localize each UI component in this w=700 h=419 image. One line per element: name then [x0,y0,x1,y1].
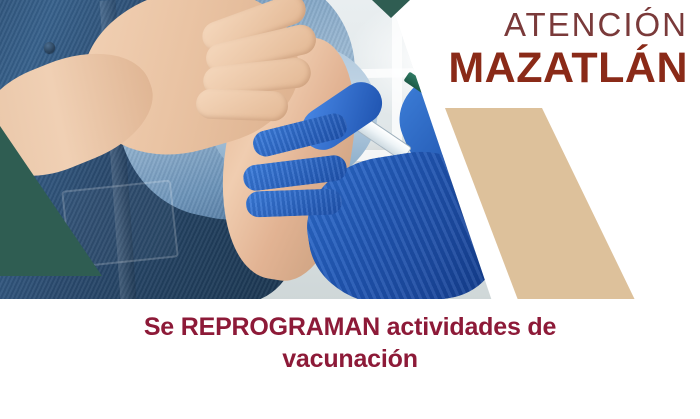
message-line-1: Se REPROGRAMAN actividades de [144,311,556,343]
poster-message-banner: Se REPROGRAMAN actividades de vacunación [0,299,700,419]
message-line-2: vacunación [282,343,418,375]
patient-finger [196,88,289,121]
gloved-finger [246,188,343,217]
vaccination-announcement-poster: ATENCIÓN MAZATLÁN Se REPROGRAMAN activid… [0,0,700,419]
headline-city: MAZATLÁN [448,47,688,90]
poster-headline: ATENCIÓN MAZATLÁN [448,8,688,90]
headline-attention: ATENCIÓN [448,8,688,41]
denim-shirt-button [44,42,55,53]
